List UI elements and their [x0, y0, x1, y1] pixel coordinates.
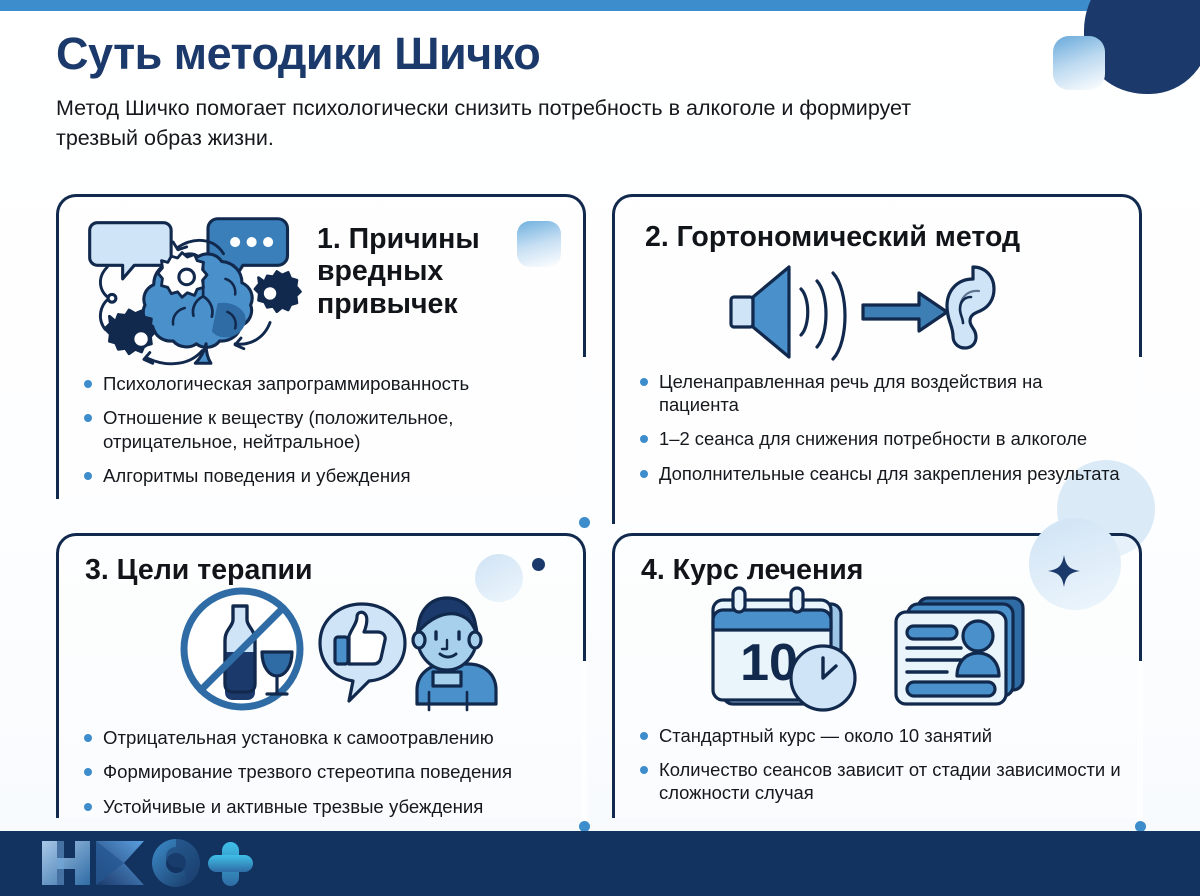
- card-title: 4. Курс лечения: [641, 554, 1061, 586]
- border-gap-mask: [1137, 661, 1143, 836]
- card-treatment-course: 4. Курс лечения 10: [612, 533, 1142, 818]
- infographic-page: Суть методики Шичко Метод Шичко помогает…: [0, 0, 1200, 896]
- calendar-clock-cards-icon: 10: [703, 584, 1033, 714]
- list-item: Количество сеансов зависит от стадии зав…: [637, 758, 1121, 804]
- page-title: Суть методики Шичко: [56, 30, 1056, 77]
- card-hortonomic-method: 2. Гортономический метод: [612, 194, 1142, 524]
- footer-bar: [0, 831, 1200, 896]
- header: Суть методики Шичко Метод Шичко помогает…: [56, 30, 1056, 154]
- card-therapy-goals: 3. Цели терапии: [56, 533, 586, 818]
- card-bullet-list: Отрицательная установка к самоотравлению…: [81, 726, 565, 829]
- brain-gears-icon: [79, 211, 304, 371]
- card-connector-dot: [579, 517, 590, 528]
- list-item: Отношение к веществу (положительное, отр…: [81, 406, 565, 453]
- card-bullet-list: Психологическая запрограммированность От…: [81, 372, 565, 499]
- list-item: Алгоритмы поведения и убеждения: [81, 464, 565, 487]
- border-gap-mask: [581, 661, 587, 836]
- card-title: 2. Гортономический метод: [645, 221, 1125, 253]
- list-item: Психологическая запрограммированность: [81, 372, 565, 395]
- card-navy-dot-decoration: [532, 558, 545, 571]
- calendar-day-number: 10: [740, 634, 798, 692]
- list-item: Дополнительные сеансы для закрепления ре…: [637, 462, 1121, 485]
- card-bullet-list: Стандартный курс — около 10 занятий Коли…: [637, 724, 1121, 816]
- list-item: Целенаправленная речь для воздействия на…: [637, 370, 1121, 416]
- card-causes-of-bad-habits: 1. Причины вредных привычек Психологичес…: [56, 194, 586, 499]
- top-accent-bar: [0, 0, 1200, 11]
- speaker-arrow-ear-icon: [723, 261, 1023, 361]
- list-item: Отрицательная установка к самоотравлению: [81, 726, 565, 749]
- list-item: Стандартный курс — около 10 занятий: [637, 724, 1121, 747]
- card-title: 3. Цели терапии: [85, 554, 505, 586]
- list-item: 1–2 сеанса для снижения потребности в ал…: [637, 427, 1121, 450]
- card-title: 1. Причины вредных привычек: [317, 223, 562, 320]
- heo-plus-logo: [36, 837, 266, 889]
- list-item: Формирование трезвого стереотипа поведен…: [81, 760, 565, 783]
- page-subtitle: Метод Шичко помогает психологически сниз…: [56, 94, 936, 153]
- card-bullet-list: Целенаправленная речь для воздействия на…: [637, 370, 1121, 496]
- no-alcohol-thumbsup-person-icon: [177, 584, 507, 714]
- corner-gradient-square-decoration: [1053, 36, 1105, 90]
- border-gap-mask: [581, 357, 587, 527]
- list-item: Устойчивые и активные трезвые убеждения: [81, 795, 565, 818]
